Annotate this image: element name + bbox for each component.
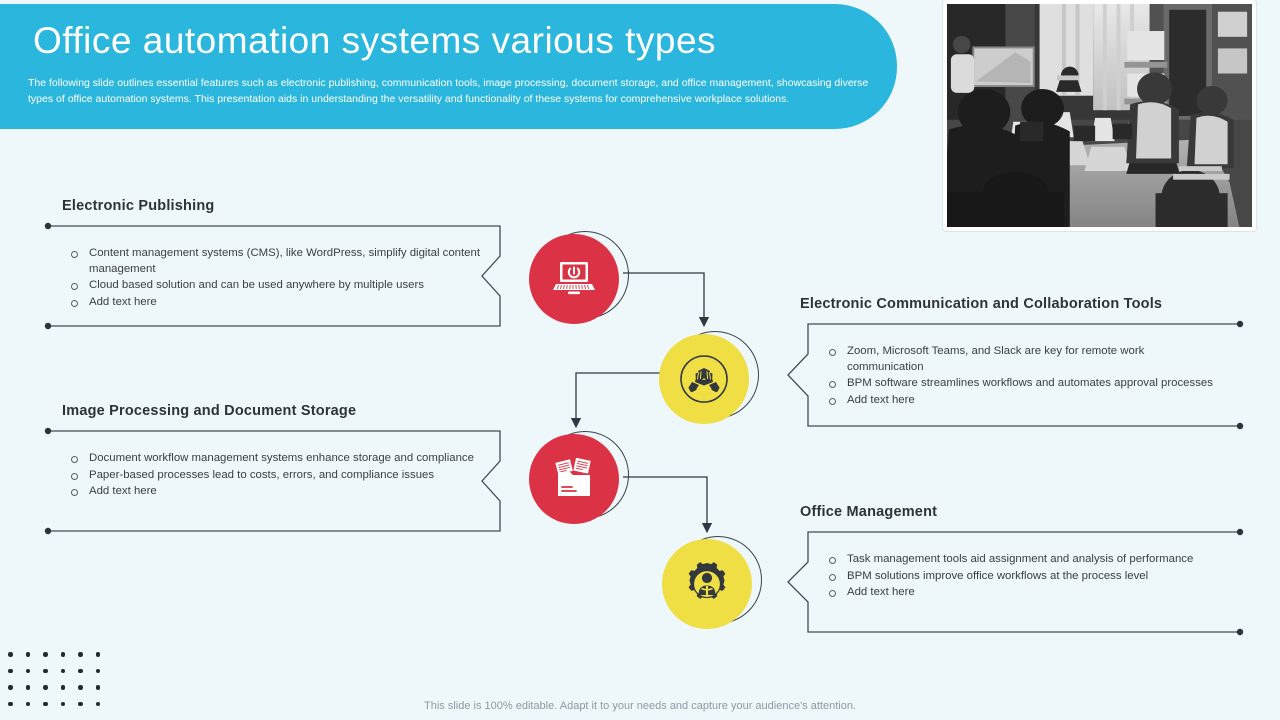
node-disc xyxy=(662,539,752,629)
node-electronic-publishing[interactable] xyxy=(529,228,625,324)
list-item: Content management systems (CMS), like W… xyxy=(66,246,486,277)
node-disc xyxy=(529,234,619,324)
laptop-power-icon xyxy=(552,259,596,299)
document-folder-icon xyxy=(551,458,597,500)
bullet-list: Zoom, Microsoft Teams, and Slack are key… xyxy=(824,344,1224,409)
node-electronic-communication[interactable] xyxy=(659,328,755,424)
section-title: Image Processing and Document Storage xyxy=(62,403,356,419)
conference-room-meeting-photo xyxy=(943,0,1256,231)
decorative-dot xyxy=(8,669,13,674)
decorative-dot xyxy=(43,669,48,674)
decorative-dot xyxy=(61,685,66,690)
node-office-management[interactable] xyxy=(662,533,758,629)
list-item: Task management tools aid assignment and… xyxy=(824,552,1224,568)
node-image-processing[interactable] xyxy=(529,428,625,524)
bullet-list: Task management tools aid assignment and… xyxy=(824,552,1224,602)
decorative-dot xyxy=(26,685,31,690)
decorative-dot xyxy=(8,685,13,690)
node-disc xyxy=(659,334,749,424)
decorative-dot xyxy=(78,669,83,674)
decorative-dot xyxy=(96,685,101,690)
gear-person-icon xyxy=(682,559,732,609)
list-item: Zoom, Microsoft Teams, and Slack are key… xyxy=(824,344,1224,375)
section-title: Electronic Communication and Collaborati… xyxy=(800,296,1162,312)
list-item: Cloud based solution and can be used any… xyxy=(66,278,486,294)
section-title: Office Management xyxy=(800,504,937,520)
decorative-dot xyxy=(43,652,48,657)
list-item: Add text here xyxy=(824,393,1224,409)
decorative-dot xyxy=(96,652,101,657)
decorative-dot xyxy=(26,669,31,674)
decorative-dot xyxy=(78,652,83,657)
node-disc xyxy=(529,434,619,524)
list-item: Add text here xyxy=(66,295,486,311)
bullet-list: Content management systems (CMS), like W… xyxy=(66,246,486,311)
decorative-dot xyxy=(61,652,66,657)
decorative-dot xyxy=(96,669,101,674)
page-title: Office automation systems various types xyxy=(33,20,863,62)
section-title: Electronic Publishing xyxy=(62,198,214,214)
page-subtitle: The following slide outlines essential f… xyxy=(28,76,888,107)
list-item: Document workflow management systems enh… xyxy=(66,451,486,467)
list-item: Add text here xyxy=(66,484,486,500)
decorative-dot xyxy=(26,652,31,657)
list-item: Paper-based processes lead to costs, err… xyxy=(66,468,486,484)
decorative-dot xyxy=(43,685,48,690)
footer-note: This slide is 100% editable. Adapt it to… xyxy=(0,700,1280,712)
bullet-list: Document workflow management systems enh… xyxy=(66,451,486,501)
decorative-dot xyxy=(61,669,66,674)
list-item: BPM solutions improve office workflows a… xyxy=(824,569,1224,585)
list-item: Add text here xyxy=(824,585,1224,601)
decorative-dot xyxy=(8,652,13,657)
handshake-icon xyxy=(679,354,729,404)
list-item: BPM software streamlines workflows and a… xyxy=(824,376,1224,392)
decorative-dot xyxy=(78,685,83,690)
